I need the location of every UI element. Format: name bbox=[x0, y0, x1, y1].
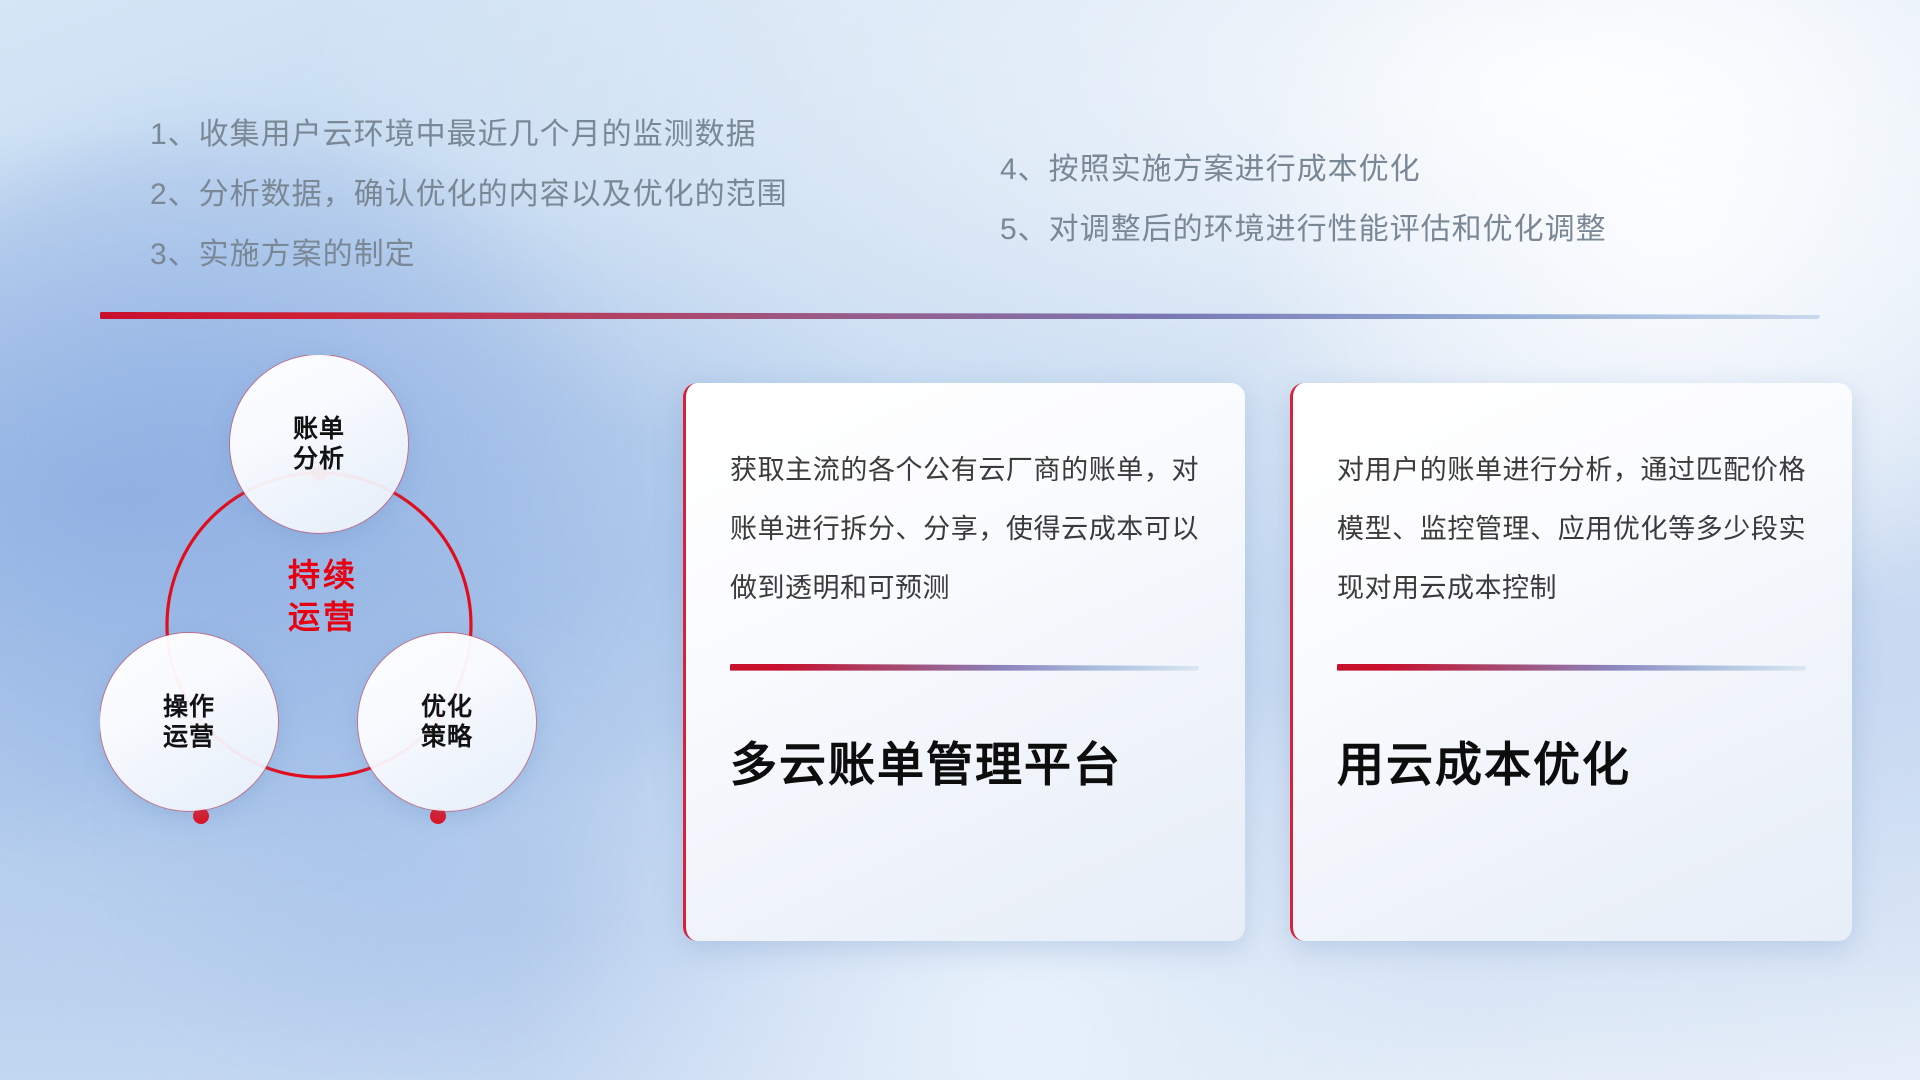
step-item-4: 4、按照实施方案进行成本优化 bbox=[1000, 155, 1607, 185]
continuous-operations-diagram: 账单 分析 操作 运营 优化 策略 持续 运营 bbox=[100, 355, 620, 915]
venn-bubble-bill-analysis-line1: 账单 bbox=[293, 414, 345, 445]
venn-bubble-optimization-strategy-line2: 策略 bbox=[421, 722, 473, 753]
slide-canvas: 1、收集用户云环境中最近几个月的监测数据 2、分析数据，确认优化的内容以及优化的… bbox=[0, 0, 1920, 1080]
steps-right-column: 4、按照实施方案进行成本优化 5、对调整后的环境进行性能评估和优化调整 bbox=[1000, 155, 1607, 275]
venn-bubble-bill-analysis[interactable]: 账单 分析 bbox=[230, 355, 408, 533]
step-item-5: 5、对调整后的环境进行性能评估和优化调整 bbox=[1000, 215, 1607, 245]
card-1-divider bbox=[730, 664, 1199, 671]
card-multi-cloud-billing-platform[interactable]: 获取主流的各个公有云厂商的账单，对账单进行拆分、分享，使得云成本可以做到透明和可… bbox=[683, 383, 1245, 941]
venn-bubble-bill-analysis-line2: 分析 bbox=[293, 444, 345, 475]
card-cloud-cost-optimization[interactable]: 对用户的账单进行分析，通过匹配价格模型、监控管理、应用优化等多少段实现对用云成本… bbox=[1290, 383, 1852, 941]
card-2-divider bbox=[1337, 664, 1806, 671]
venn-bubble-optimization-strategy[interactable]: 优化 策略 bbox=[358, 633, 536, 811]
venn-bubble-optimization-strategy-line1: 优化 bbox=[421, 692, 473, 723]
process-steps-list: 1、收集用户云环境中最近几个月的监测数据 2、分析数据，确认优化的内容以及优化的… bbox=[0, 0, 1920, 300]
card-1-title: 多云账单管理平台 bbox=[730, 739, 1199, 791]
card-1-body-text: 获取主流的各个公有云厂商的账单，对账单进行拆分、分享，使得云成本可以做到透明和可… bbox=[730, 441, 1199, 618]
venn-bubble-operations-line1: 操作 bbox=[163, 692, 215, 723]
step-item-3: 3、实施方案的制定 bbox=[150, 240, 788, 270]
card-2-title: 用云成本优化 bbox=[1337, 739, 1806, 791]
card-2-body-text: 对用户的账单进行分析，通过匹配价格模型、监控管理、应用优化等多少段实现对用云成本… bbox=[1337, 441, 1806, 618]
step-item-1: 1、收集用户云环境中最近几个月的监测数据 bbox=[150, 120, 788, 150]
venn-bubble-operations-line2: 运营 bbox=[163, 722, 215, 753]
step-item-2: 2、分析数据，确认优化的内容以及优化的范围 bbox=[150, 180, 788, 210]
steps-left-column: 1、收集用户云环境中最近几个月的监测数据 2、分析数据，确认优化的内容以及优化的… bbox=[150, 120, 788, 300]
venn-bubble-operations[interactable]: 操作 运营 bbox=[100, 633, 278, 811]
